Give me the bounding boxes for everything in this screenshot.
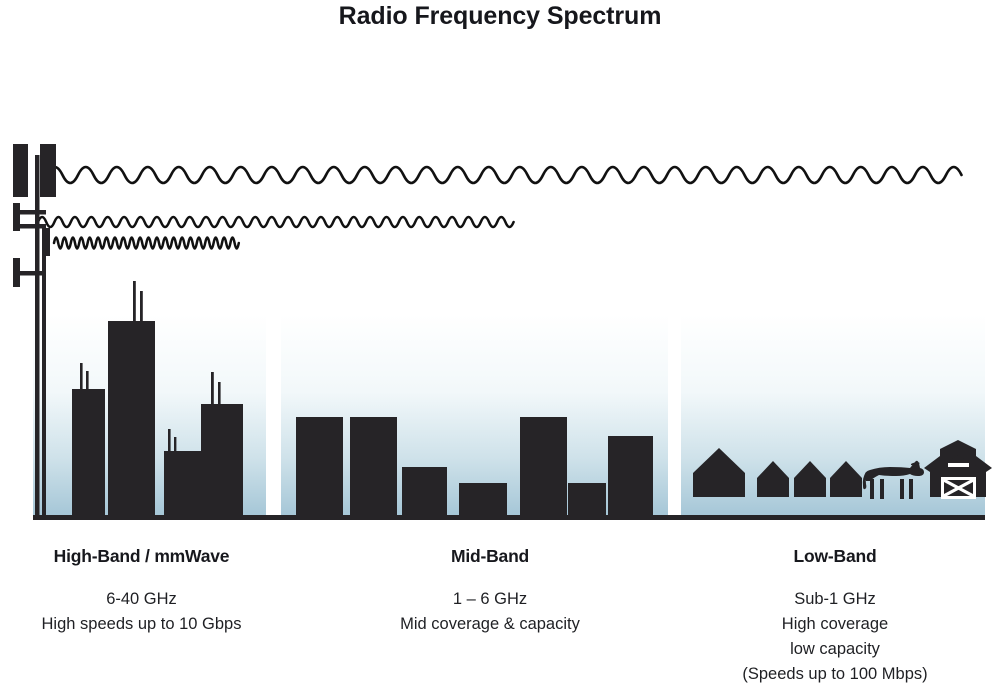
skyscraper-2	[108, 321, 155, 519]
antenna-panel-1	[13, 144, 28, 197]
band-line: High speeds up to 10 Gbps	[0, 612, 283, 637]
skyscraper-2-spire-b	[140, 291, 143, 322]
skyscraper-3-spire-a	[168, 429, 171, 452]
band-line: 1 – 6 GHz	[330, 587, 650, 612]
ground-line	[33, 515, 985, 520]
midrise-2	[350, 417, 397, 519]
skyscraper-4	[201, 404, 243, 519]
band-description-high: 6-40 GHz High speeds up to 10 Gbps	[0, 587, 283, 637]
midrise-4	[459, 483, 507, 519]
skyscraper-1	[72, 389, 105, 519]
skyscraper-1-spire-a	[80, 363, 83, 390]
midrise-5	[520, 417, 567, 519]
column-high-band: High-Band / mmWave 6-40 GHz High speeds …	[0, 546, 283, 637]
antenna-panel-3	[13, 203, 20, 231]
band-label-high: High-Band / mmWave	[0, 546, 283, 567]
skyscraper-3	[164, 451, 201, 519]
midrise-1	[296, 417, 343, 519]
midrise-3	[402, 467, 447, 519]
skyscraper-3-spire-b	[174, 437, 176, 452]
skyscraper-2-spire-a	[133, 281, 136, 322]
skyscraper-4-spire-a	[211, 372, 214, 405]
radio-waves	[38, 167, 962, 249]
antenna-panel-4	[43, 228, 50, 256]
skyscraper-1-spire-b	[86, 371, 89, 390]
infographic-root: Radio Frequency Spectrum	[0, 0, 1000, 700]
tower-mast-left	[35, 155, 40, 520]
band-line: High coverage	[675, 612, 995, 637]
band-label-low: Low-Band	[675, 546, 995, 567]
band-line: 6-40 GHz	[0, 587, 283, 612]
barn-vent	[948, 463, 969, 467]
column-mid-band: Mid-Band 1 – 6 GHz Mid coverage & capaci…	[330, 546, 650, 637]
high-band-wave	[54, 238, 239, 249]
band-description-mid: 1 – 6 GHz Mid coverage & capacity	[330, 587, 650, 637]
band-line: Mid coverage & capacity	[330, 612, 650, 637]
midrise-7	[608, 436, 653, 519]
antenna-panel-2	[40, 144, 56, 197]
band-line: (Speeds up to 100 Mbps)	[675, 662, 995, 687]
band-description-low: Sub-1 GHz High coverage low capacity (Sp…	[675, 587, 995, 687]
band-line: low capacity	[675, 637, 995, 662]
band-label-mid: Mid-Band	[330, 546, 650, 567]
band-line: Sub-1 GHz	[675, 587, 995, 612]
mid-band-wave	[38, 217, 514, 227]
column-low-band: Low-Band Sub-1 GHz High coverage low cap…	[675, 546, 995, 687]
low-band-wave	[47, 167, 962, 183]
midrise-6	[568, 483, 606, 519]
antenna-panel-5	[13, 258, 20, 287]
skyscraper-4-spire-b	[218, 382, 221, 405]
